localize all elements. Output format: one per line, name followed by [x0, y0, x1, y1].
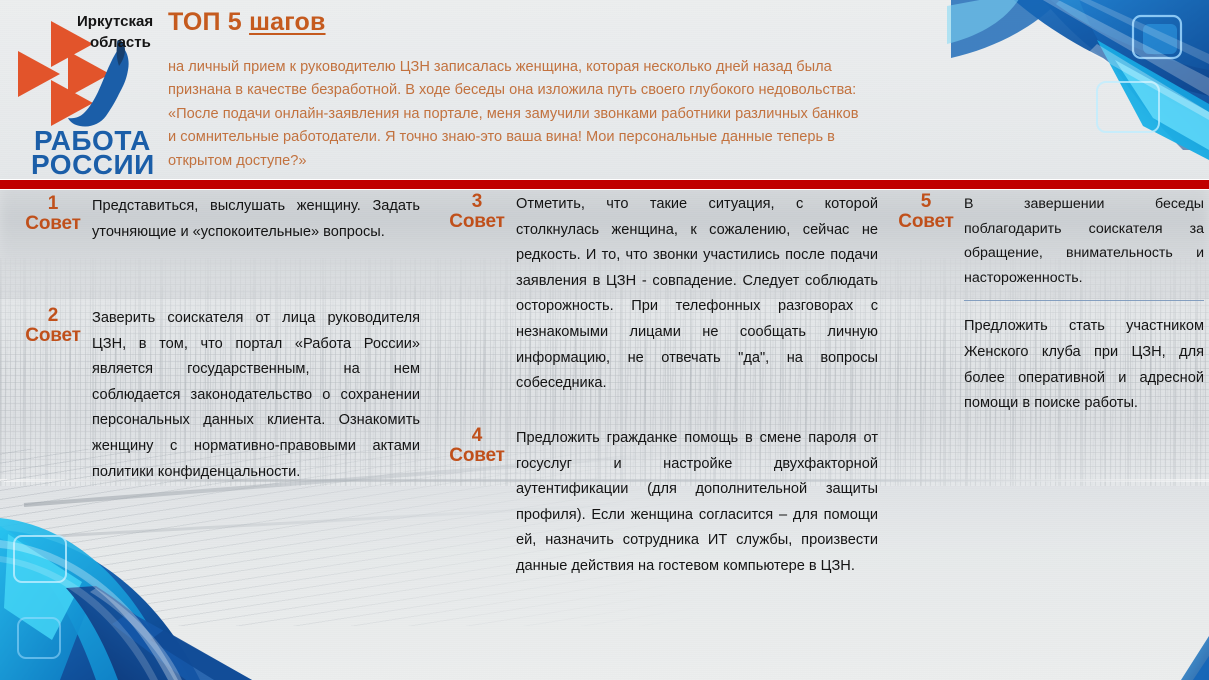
tip-tail-text: Предложить стать участником Женского клу…	[964, 314, 1204, 416]
rabota-rossii-logo: РАБОТА РОССИИ Иркутская область	[18, 4, 178, 176]
slide-canvas: РАБОТА РОССИИ Иркутская область ТОП 5 ша…	[0, 0, 1209, 680]
tip-badge-2: 2 Совет	[14, 306, 92, 345]
tip-body-2: Заверить соискателя от лица руководителя…	[92, 306, 420, 485]
tip-body-3: Отметить, что такие ситуация, с которой …	[516, 192, 878, 397]
tip-label: Совет	[888, 212, 964, 231]
svg-text:Иркутская: Иркутская	[77, 13, 153, 30]
tip-card-5: 5 Совет В завершении беседы поблагодарит…	[888, 192, 1204, 417]
tip-card-1: 1 Совет Представиться, выслушать женщину…	[14, 194, 420, 245]
tip-tail-5: Предложить стать участником Женского клу…	[964, 314, 1204, 416]
svg-text:область: область	[90, 34, 151, 51]
tip-number: 5	[888, 192, 964, 211]
tip-card-2: 2 Совет Заверить соискателя от лица руко…	[14, 306, 420, 485]
intro-line: и сомнительные работодатели. Я точно зна…	[168, 126, 1108, 149]
intro-line: открытом доступе?»	[168, 150, 1108, 173]
tip-number: 2	[14, 306, 92, 325]
slide-header: РАБОТА РОССИИ Иркутская область ТОП 5 ша…	[0, 0, 1209, 182]
page-title-prefix: ТОП 5	[168, 8, 249, 36]
intro-paragraph: на личный прием к руководителю ЦЗН запис…	[168, 56, 1108, 173]
intro-line: «После подачи онлайн-заявления на портал…	[168, 103, 1108, 126]
tip-badge-5: 5 Совет	[888, 192, 964, 231]
tip-text: Отметить, что такие ситуация, с которой …	[516, 192, 878, 397]
tip-separator	[964, 300, 1204, 301]
tip-badge-4: 4 Совет	[438, 426, 516, 465]
tip-text: Заверить соискателя от лица руководителя…	[92, 306, 420, 485]
tip-badge-3: 3 Совет	[438, 192, 516, 231]
tip-text: В завершении беседы поблагодарить соиска…	[964, 192, 1204, 290]
tips-board: 1 Совет Представиться, выслушать женщину…	[0, 188, 1209, 680]
page-title: ТОП 5 шагов	[168, 8, 326, 37]
intro-line: признана в качестве безработной. В ходе …	[168, 79, 1108, 102]
header-divider-rule	[0, 179, 1209, 189]
tip-body-1: Представиться, выслушать женщину. Задать…	[92, 194, 420, 245]
tip-text: Представиться, выслушать женщину. Задать…	[92, 194, 420, 245]
tip-body-5: В завершении беседы поблагодарить соиска…	[964, 192, 1204, 417]
tip-badge-1: 1 Совет	[14, 194, 92, 233]
svg-text:РОССИИ: РОССИИ	[31, 149, 155, 176]
tip-label: Совет	[14, 214, 92, 233]
tip-label: Совет	[438, 446, 516, 465]
intro-line: на личный прием к руководителю ЦЗН запис…	[168, 56, 1108, 79]
tip-number: 4	[438, 426, 516, 445]
page-title-underlined: шагов	[249, 8, 325, 36]
tip-number: 3	[438, 192, 516, 211]
tip-body-4: Предложить гражданке помощь в смене паро…	[516, 426, 878, 580]
tip-card-4: 4 Совет Предложить гражданке помощь в см…	[438, 426, 878, 580]
tip-text: Предложить гражданке помощь в смене паро…	[516, 426, 878, 580]
tip-label: Совет	[14, 326, 92, 345]
tip-number: 1	[14, 194, 92, 213]
tip-card-3: 3 Совет Отметить, что такие ситуация, с …	[438, 192, 878, 397]
tip-label: Совет	[438, 212, 516, 231]
